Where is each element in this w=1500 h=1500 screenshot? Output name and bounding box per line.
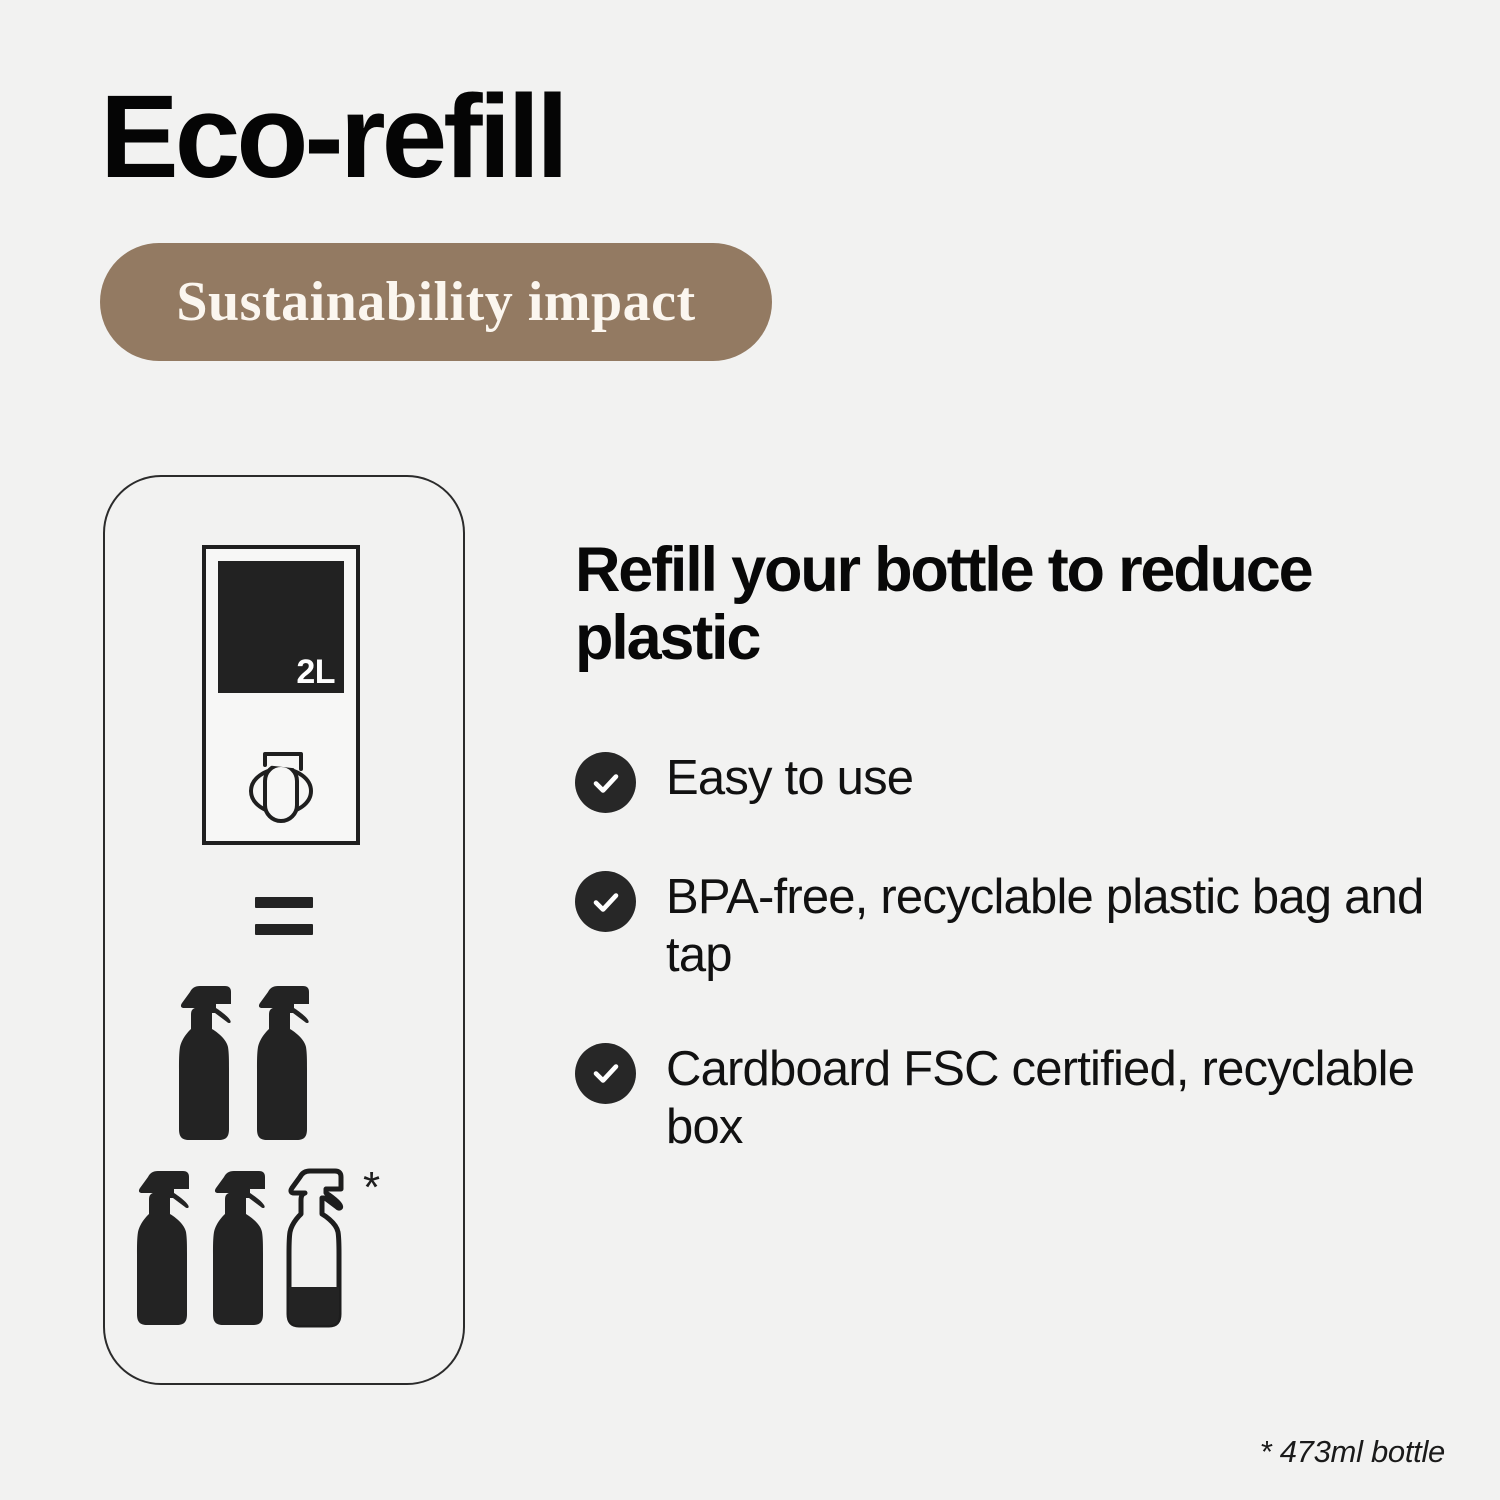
check-icon	[575, 871, 636, 932]
spray-bottle-filled	[129, 1162, 195, 1330]
spray-bottle-filled	[249, 977, 315, 1145]
feature-item: Cardboard FSC certified, recyclable box	[575, 1041, 1435, 1157]
check-icon	[575, 752, 636, 813]
footnote: * 473ml bottle	[1260, 1434, 1445, 1470]
feature-label: BPA-free, recyclable plastic bag and tap	[666, 869, 1435, 985]
feature-item: Easy to use	[575, 750, 1435, 813]
feature-item: BPA-free, recyclable plastic bag and tap	[575, 869, 1435, 985]
equals-bar-top	[255, 897, 313, 908]
feature-list: Easy to use BPA-free, recyclable plastic…	[575, 750, 1435, 1156]
headline: Refill your bottle to reduce plastic	[575, 536, 1315, 672]
feature-label: Easy to use	[666, 750, 913, 808]
spray-bottle-partial	[281, 1162, 347, 1330]
check-icon	[575, 1043, 636, 1104]
refill-box-illustration: 2L	[202, 545, 360, 845]
badge-label: Sustainability impact	[176, 270, 695, 334]
refill-equivalence-card: 2L	[103, 475, 465, 1385]
tap-icon	[244, 741, 318, 823]
equals-bar-bottom	[255, 924, 313, 935]
infographic-page: Eco-refill Sustainability impact 2L	[0, 0, 1500, 1500]
volume-label: 2L	[296, 655, 335, 689]
spray-bottle-filled	[205, 1162, 271, 1330]
bottle-row-bottom: *	[129, 1162, 380, 1330]
feature-label: Cardboard FSC certified, recyclable box	[666, 1041, 1435, 1157]
equals-sign	[255, 897, 313, 935]
sustainability-impact-badge: Sustainability impact	[100, 243, 772, 361]
page-title: Eco-refill	[100, 78, 565, 196]
asterisk-marker: *	[363, 1166, 380, 1210]
content-column: Refill your bottle to reduce plastic Eas…	[575, 536, 1435, 1156]
bottle-row-top	[171, 977, 315, 1145]
refill-box-dark-panel: 2L	[218, 561, 344, 693]
spray-bottle-filled	[171, 977, 237, 1145]
